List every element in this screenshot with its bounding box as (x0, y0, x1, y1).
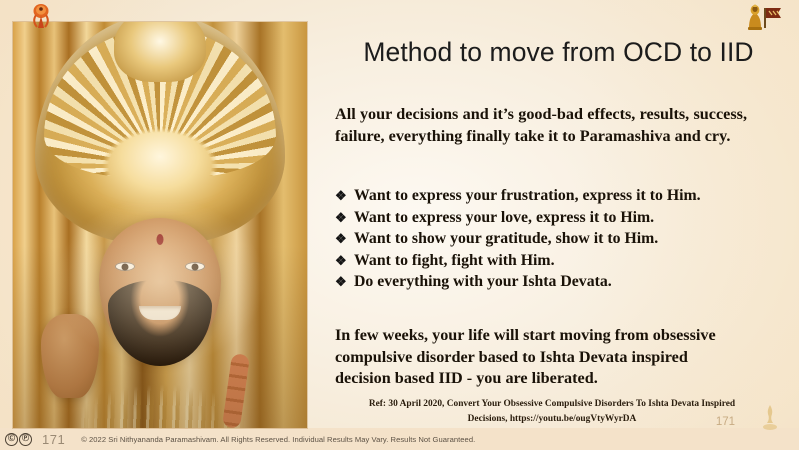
diamond-bullet-icon: ❖ (335, 186, 347, 206)
speaker-photo (13, 22, 307, 428)
coral-bead-strand (222, 353, 250, 428)
photo-background (13, 22, 307, 428)
creative-commons-icons: Ⓒ Ⓟ (5, 433, 32, 446)
beard (108, 280, 212, 366)
reference-line-1: Ref: 30 April 2020, Convert Your Obsessi… (342, 397, 762, 412)
attribution-icon: Ⓟ (19, 433, 32, 446)
raised-hand (41, 314, 99, 398)
list-item-label: Want to show your gratitude, show it to … (354, 230, 658, 247)
forehead-mark (157, 234, 164, 245)
page-number-left: 171 (42, 432, 65, 447)
list-item: ❖ Do everything with your Ishta Devata. (335, 272, 755, 293)
face (99, 218, 221, 360)
deity-with-flag-emblem-icon (737, 2, 785, 32)
list-item-label: Want to express your frustration, expres… (354, 187, 701, 204)
reference-citation: Ref: 30 April 2020, Convert Your Obsessi… (342, 397, 762, 426)
list-item: ❖ Want to express your love, express it … (335, 208, 755, 229)
gold-necklaces (45, 316, 275, 428)
diamond-bullet-icon: ❖ (335, 229, 347, 249)
footer-bar: Ⓒ Ⓟ 171 © 2022 Sri Nithyananda Paramashi… (0, 428, 799, 450)
list-item-label: Do everything with your Ishta Devata. (354, 273, 612, 290)
diamond-bullet-icon: ❖ (335, 272, 347, 292)
gold-necklaces-detail (40, 310, 280, 428)
list-item-label: Want to fight, fight with Him. (354, 252, 555, 269)
diamond-bullet-icon: ❖ (335, 251, 347, 271)
list-item: ❖ Want to express your frustration, expr… (335, 186, 755, 207)
list-item: ❖ Want to show your gratitude, show it t… (335, 229, 755, 250)
reference-line-2: Decisions, https://youtu.be/ougVtyWyrDA (342, 412, 762, 427)
copyleft-icon: Ⓒ (5, 433, 18, 446)
page-title: Method to move from OCD to IID (318, 37, 799, 68)
diamond-bullet-icon: ❖ (335, 208, 347, 228)
bullet-list: ❖ Want to express your frustration, expr… (335, 186, 755, 294)
crown-rays (44, 28, 276, 178)
list-item: ❖ Want to fight, fight with Him. (335, 251, 755, 272)
copyright-notice: © 2022 Sri Nithyananda Paramashivam. All… (81, 435, 475, 444)
left-eye (115, 262, 135, 271)
crown-peak (114, 22, 206, 82)
list-item-label: Want to express your love, express it to… (354, 209, 654, 226)
page-number-right: 171 (716, 416, 735, 428)
mouth (139, 306, 181, 320)
content-column: Method to move from OCD to IID All your … (318, 0, 799, 450)
golden-crown (35, 22, 285, 244)
right-eye (185, 262, 205, 271)
slide-canvas: Method to move from OCD to IID All your … (0, 0, 799, 450)
intro-paragraph: All your decisions and it’s good-bad eff… (335, 104, 747, 147)
outro-paragraph: In few weeks, your life will start movin… (335, 325, 745, 390)
kavi-peacock-emblem-icon (28, 2, 54, 32)
